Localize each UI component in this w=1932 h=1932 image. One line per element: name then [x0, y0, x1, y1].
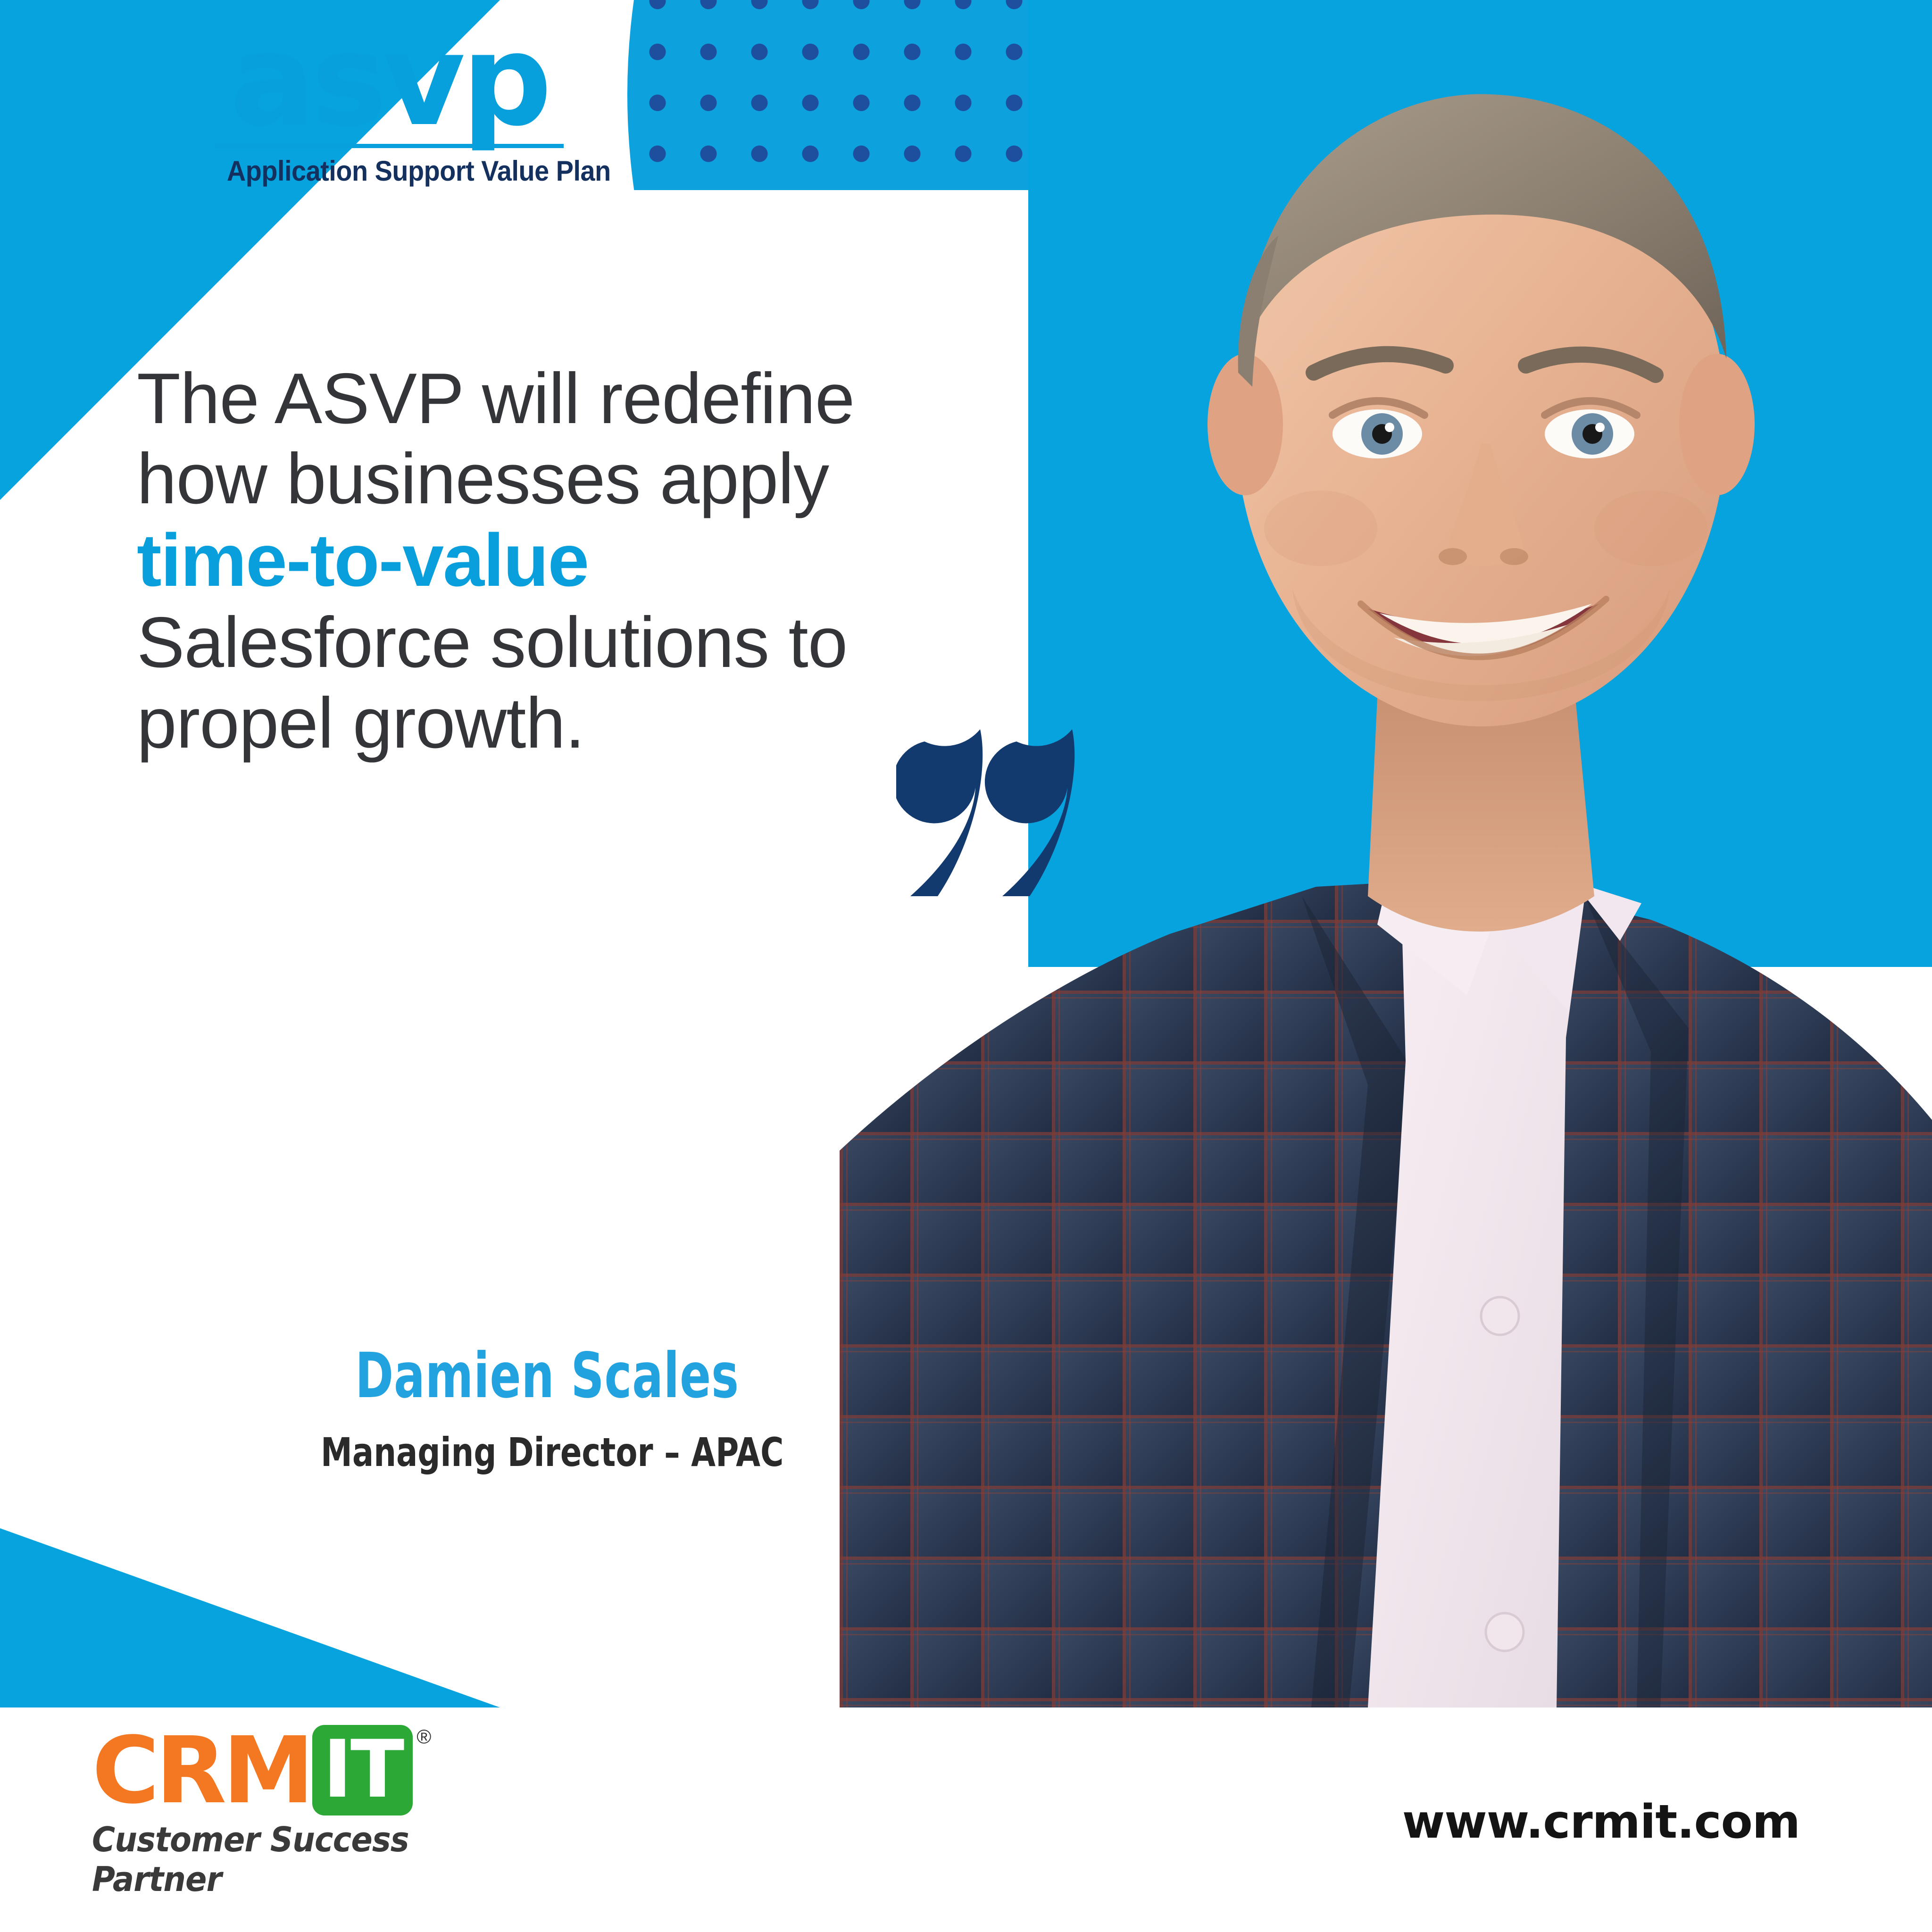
crmit-logo[interactable]: CRM IT ® Customer Success Partner [92, 1725, 498, 1899]
closing-quote-icon [896, 717, 1094, 896]
quote-text-block: The ASVP will redefine how businesses ap… [137, 358, 1033, 763]
asvp-subtitle: Application Support Value Plan [227, 155, 551, 187]
footer-bar: CRM IT ® Customer Success Partner www.cr… [0, 1707, 1932, 1932]
speaker-name: Damien Scales [338, 1340, 757, 1412]
corner-wedge-bottom-left-icon [0, 1528, 500, 1707]
quote-line-4: Salesforce solutions to [137, 602, 1033, 683]
quote-line-2: how businesses apply [137, 439, 1033, 519]
quote-line-3-highlight: time-to-value [137, 519, 1033, 602]
promo-card: asvp Application Support Value Plan The … [0, 0, 1932, 1932]
crmit-crm-text: CRM [92, 1724, 310, 1816]
asvp-logo: asvp Application Support Value Plan [215, 23, 564, 187]
crmit-tagline: Customer Success Partner [92, 1820, 469, 1899]
website-url[interactable]: www.crmit.com [1402, 1795, 1800, 1849]
attribution-block: Damien Scales Managing Director – APAC [264, 1340, 830, 1475]
registered-trademark-icon: ® [416, 1725, 431, 1748]
crmit-wordmark: CRM IT ® [92, 1725, 498, 1815]
asvp-wordmark: asvp [215, 23, 564, 139]
crmit-it-text: IT [323, 1723, 402, 1815]
speaker-role: Managing Director – APAC [321, 1429, 774, 1475]
crmit-it-badge: IT [312, 1725, 413, 1815]
quote-line-1: The ASVP will redefine [137, 358, 1033, 439]
